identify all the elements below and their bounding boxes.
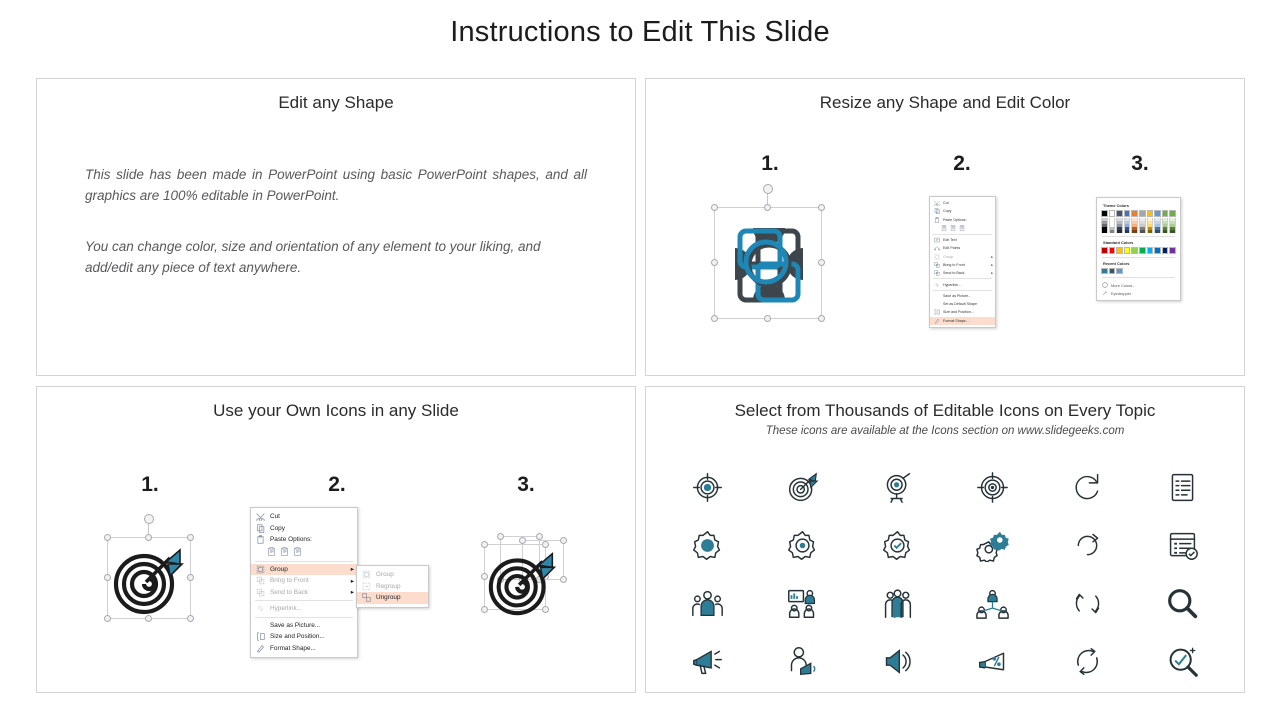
color-picker-divider-2	[1102, 257, 1175, 258]
context-menu-item-label: Hyperlink...	[941, 283, 993, 287]
person-megaphone-icon[interactable]	[786, 645, 819, 678]
ungrouped-target-icon-group[interactable]	[484, 536, 566, 620]
hyperlink-icon-wrap	[932, 282, 941, 288]
theme-shade-5-4[interactable]	[1139, 230, 1146, 233]
target-on-stand-icon[interactable]	[881, 471, 914, 504]
standard-color-swatch-8[interactable]	[1162, 247, 1169, 254]
icon-cell-crosshair-target-icon[interactable]	[660, 458, 755, 516]
paste-keep-text-icon-wrap[interactable]	[959, 225, 965, 232]
icon-cell-presentation-team-icon[interactable]	[755, 574, 850, 632]
paste-keep-formatting-icon	[941, 225, 947, 231]
context-menu-item-label: Edit Points	[941, 246, 993, 250]
theme-color-swatch-7[interactable]	[1154, 210, 1161, 217]
edit-shape-paragraph-1: This slide has been made in PowerPoint u…	[85, 165, 587, 207]
theme-shade-8-4[interactable]	[1162, 230, 1169, 233]
size-position-icon	[934, 309, 940, 315]
standard-color-swatch-3[interactable]	[1124, 247, 1131, 254]
theme-color-swatch-9[interactable]	[1169, 210, 1176, 217]
context-menu-small[interactable]: CutCopyPaste Options:Edit TextEdit Point…	[929, 196, 996, 328]
theme-shade-2-4[interactable]	[1116, 230, 1123, 233]
loudspeaker-icon[interactable]	[881, 645, 914, 678]
group-icon-wrap	[932, 254, 941, 260]
paste-options-row[interactable]	[930, 224, 995, 233]
context-menu-item-copy[interactable]: Copy	[930, 207, 995, 215]
none-wrap	[932, 301, 941, 307]
recent-colors-grid[interactable]	[1101, 268, 1176, 275]
icon-cell-dual-gears-icon[interactable]	[945, 516, 1040, 574]
megaphone-icon[interactable]	[691, 645, 724, 678]
resize-step-number-1: 1.	[740, 152, 800, 176]
gear-filled-icon[interactable]	[691, 529, 724, 562]
edit-text-icon-wrap	[932, 237, 941, 243]
paste-keep-text-icon	[959, 225, 965, 231]
context-menu-divider	[933, 290, 992, 291]
team-crowd-icon[interactable]	[881, 587, 914, 620]
context-menu-item-label: Send to Back	[941, 271, 991, 275]
send-back-icon-wrap	[254, 588, 267, 597]
context-menu-item-save-as-picture[interactable]: Save as Picture...	[930, 292, 995, 300]
bring-front-icon	[934, 262, 940, 268]
icon-row-3	[660, 574, 1230, 632]
icon-cell-magnifier-target-icon[interactable]	[1135, 632, 1230, 690]
icon-cell-circular-arrow-icon[interactable]	[1040, 516, 1135, 574]
paste-picture-icon	[950, 225, 956, 231]
hyperlink-icon-wrap	[254, 604, 267, 613]
crosshair-rings-icon[interactable]	[976, 471, 1009, 504]
edit-text-icon	[934, 237, 940, 243]
scissors-icon	[256, 512, 265, 521]
context-menu[interactable]: CutCopyPaste Options:Group▸Bring to Fron…	[250, 507, 358, 658]
resize-handle-bottom-left[interactable]	[711, 315, 718, 322]
context-menu-item-label: Size and Position...	[267, 633, 354, 640]
circular-arrow-icon[interactable]	[1071, 529, 1104, 562]
more-colors-label: More Colors...	[1111, 283, 1135, 288]
send-back-icon	[256, 588, 265, 597]
theme-shade-7-4[interactable]	[1154, 230, 1161, 233]
recent-color-swatch-0[interactable]	[1101, 268, 1108, 275]
refresh-arrow-icon[interactable]	[1071, 471, 1104, 504]
format-shape-icon-wrap	[932, 318, 941, 324]
icons-step-number-1: 1.	[120, 473, 180, 497]
context-menu-item-label: Group	[267, 566, 351, 573]
magnifier-target-icon[interactable]	[1166, 645, 1199, 678]
gear-center-dot-icon[interactable]	[786, 529, 819, 562]
ungroup-icon	[362, 593, 371, 602]
icon-cell-refresh-arrow-icon[interactable]	[1040, 458, 1135, 516]
theme-shade-column-6[interactable]	[1147, 218, 1154, 233]
paste-keep-text-icon	[293, 547, 302, 556]
recent-color-swatch-1[interactable]	[1109, 268, 1116, 275]
chevron-right-icon: ▸	[991, 271, 993, 275]
context-menu-item-label: Save as Picture...	[941, 294, 993, 298]
resize-handle-bottom-middle[interactable]	[764, 315, 771, 322]
context-menu-item-label: Cut	[267, 513, 354, 520]
paste-picture-icon-wrap[interactable]	[950, 225, 956, 232]
color-picker-standard-heading: Standard Colors	[1103, 240, 1176, 245]
context-menu-item-label: Hyperlink...	[267, 605, 354, 612]
icon-cell-network-team-icon[interactable]	[945, 574, 1040, 632]
icon-cell-crosshair-rings-icon[interactable]	[945, 458, 1040, 516]
icon-cell-gear-check-icon[interactable]	[850, 516, 945, 574]
page-title: Instructions to Edit This Slide	[0, 16, 1280, 49]
theme-shade-1-4[interactable]	[1109, 230, 1116, 233]
context-menu-item-ungroup[interactable]: Ungroup	[357, 592, 428, 604]
theme-shade-column-2[interactable]	[1116, 218, 1123, 233]
context-menu-item-group[interactable]: Group▸	[251, 564, 357, 576]
chevron-right-icon: ▸	[991, 255, 993, 259]
icon-cell-loudspeaker-icon[interactable]	[850, 632, 945, 690]
bring-front-icon-wrap	[932, 262, 941, 268]
resize-handle-bottom-middle[interactable]	[145, 615, 152, 622]
context-menu-item-send-to-back[interactable]: Send to Back▸	[930, 269, 995, 277]
icon-row-2	[660, 516, 1230, 574]
format-shape-icon-wrap	[254, 644, 267, 653]
chevron-right-icon: ▸	[991, 263, 993, 267]
context-menu-item-copy[interactable]: Copy	[251, 523, 357, 535]
context-menu-divider	[255, 561, 353, 562]
context-menu-item-label: Group	[941, 255, 991, 259]
icon-row-1	[660, 458, 1230, 516]
context-menu-item-label: Paste Options:	[941, 218, 993, 222]
paste-icon	[256, 535, 265, 544]
color-picker-divider-3	[1102, 277, 1175, 278]
edit-points-icon-wrap	[932, 245, 941, 251]
paste-icon-wrap	[254, 535, 267, 544]
context-menu-item-bring-to-front[interactable]: Bring to Front▸	[251, 575, 357, 587]
paste-keep-text-icon-wrap[interactable]	[293, 547, 302, 558]
chevron-right-icon: ▸	[351, 577, 354, 585]
context-menu-item-hyperlink[interactable]: Hyperlink...	[930, 280, 995, 288]
context-menu-item-label: Bring to Front	[267, 577, 351, 584]
icons-step-number-3: 3.	[496, 473, 556, 497]
paste-icon-wrap	[932, 217, 941, 223]
hyperlink-icon	[934, 282, 940, 288]
resize-handle-top-middle[interactable]	[764, 204, 771, 211]
theme-color-swatch-3[interactable]	[1124, 210, 1131, 217]
theme-color-swatch-0[interactable]	[1101, 210, 1108, 217]
resize-handle-bottom-left[interactable]	[104, 615, 111, 622]
target-icon-selection-box[interactable]	[107, 537, 191, 619]
rotation-handle[interactable]	[144, 514, 154, 524]
regroup-icon-wrap	[360, 582, 373, 591]
format-shape-icon	[934, 318, 940, 324]
hyperlink-icon	[256, 604, 265, 613]
theme-color-swatch-1[interactable]	[1109, 210, 1116, 217]
none-wrap	[932, 293, 941, 299]
scissors-icon-wrap	[932, 200, 941, 206]
resize-handle-middle-right[interactable]	[818, 259, 825, 266]
theme-shade-column-5[interactable]	[1139, 218, 1146, 233]
context-menu-item-group[interactable]: Group▸	[930, 252, 995, 260]
theme-shade-column-8[interactable]	[1162, 218, 1169, 233]
slide-canvas: Instructions to Edit This Slide Edit any…	[0, 0, 1280, 720]
theme-shade-column-9[interactable]	[1169, 218, 1176, 233]
none-wrap	[254, 621, 267, 630]
icon-cell-document-check-icon[interactable]	[1135, 516, 1230, 574]
theme-shade-column-0[interactable]	[1101, 218, 1108, 233]
context-menu-item-bring-to-front[interactable]: Bring to Front▸	[930, 261, 995, 269]
chevron-right-icon: ▸	[351, 588, 354, 596]
context-menu-item-cut[interactable]: Cut	[930, 199, 995, 207]
context-menu-item-hyperlink[interactable]: Hyperlink...	[251, 603, 357, 615]
resize-handle-top-right[interactable]	[818, 204, 825, 211]
context-menu-item-label: Size and Position...	[941, 310, 993, 314]
paste-keep-formatting-icon	[267, 547, 276, 556]
standard-color-swatch-0[interactable]	[1101, 247, 1108, 254]
network-team-icon[interactable]	[976, 587, 1009, 620]
size-position-icon-wrap	[254, 632, 267, 641]
resize-step-number-3: 3.	[1110, 152, 1170, 176]
dartboard-arrow-icon	[484, 538, 566, 622]
context-menu-item-label: Copy	[941, 209, 993, 213]
icon-cell-gear-filled-icon[interactable]	[660, 516, 755, 574]
bring-front-icon	[256, 576, 265, 585]
context-menu-item-label: Group	[373, 571, 425, 578]
theme-color-swatch-2[interactable]	[1116, 210, 1123, 217]
context-menu-item-label: Bring to Front	[941, 263, 991, 267]
context-menu-divider	[933, 278, 992, 279]
context-menu-divider	[255, 600, 353, 601]
theme-color-swatch-8[interactable]	[1162, 210, 1169, 217]
paste-icon	[934, 217, 940, 223]
icon-cell-checklist-document-icon[interactable]	[1135, 458, 1230, 516]
crosshair-target-icon[interactable]	[691, 471, 724, 504]
context-menu-item-regroup[interactable]: Regroup	[357, 581, 428, 593]
context-menu-item-cut[interactable]: Cut	[251, 511, 357, 523]
panel-edit-any-shape: Edit any Shape This slide has been made …	[36, 78, 636, 376]
theme-colors-shades-grid[interactable]	[1101, 218, 1176, 233]
resize-handle-top-left[interactable]	[104, 534, 111, 541]
eyedropper-label: Eyedropper	[1111, 291, 1131, 296]
resize-handle-top-right[interactable]	[187, 534, 194, 541]
eyedropper-icon	[1102, 290, 1108, 296]
quadrant-circle-shape-icon	[715, 208, 823, 320]
icon-cell-magnifier-icon[interactable]	[1135, 574, 1230, 632]
theme-shade-0-4[interactable]	[1101, 230, 1108, 233]
context-menu-item-label: Send to Back	[267, 589, 351, 596]
icons-step-number-2: 2.	[307, 473, 367, 497]
icon-gallery-grid	[660, 458, 1230, 690]
context-menu-item-label: Copy	[267, 525, 354, 532]
context-menu-item-label: Save as Picture...	[267, 622, 354, 629]
theme-shade-6-4[interactable]	[1147, 230, 1154, 233]
copy-icon	[934, 208, 940, 214]
ungroup-icon-wrap	[360, 593, 373, 602]
theme-color-swatch-5[interactable]	[1139, 210, 1146, 217]
resize-handle-middle-left[interactable]	[711, 259, 718, 266]
context-menu-item-label: Regroup	[373, 583, 425, 590]
resize-handle-top-left[interactable]	[711, 204, 718, 211]
eyedropper-option[interactable]: Eyedropper	[1101, 289, 1176, 297]
icon-cell-team-crowd-icon[interactable]	[850, 574, 945, 632]
panel-title-resize-shape: Resize any Shape and Edit Color	[646, 93, 1244, 113]
context-menu-item-label: Cut	[941, 201, 993, 205]
group-icon-wrap	[254, 565, 267, 574]
edit-shape-paragraph-2: You can change color, size and orientati…	[85, 237, 587, 279]
group-icon-wrap	[360, 570, 373, 579]
paste-picture-icon	[280, 547, 289, 556]
context-menu-item-format-shape[interactable]: Format Shape...	[251, 643, 357, 655]
context-menu-item-label: Edit Text	[941, 238, 993, 242]
theme-color-swatch-6[interactable]	[1147, 210, 1154, 217]
context-menu-item-label: Paste Options:	[267, 536, 354, 543]
panel-title-editable-icons: Select from Thousands of Editable Icons …	[646, 401, 1244, 421]
theme-shade-column-4[interactable]	[1131, 218, 1138, 233]
size-position-icon	[256, 632, 265, 641]
context-menu-group-submenu[interactable]: GroupRegroupUngroup	[356, 565, 429, 608]
standard-color-swatch-6[interactable]	[1147, 247, 1154, 254]
panel-subtitle-editable-icons: These icons are available at the Icons s…	[646, 425, 1244, 437]
panel-title-edit-shape: Edit any Shape	[37, 93, 635, 113]
resize-handle-bottom-right[interactable]	[818, 315, 825, 322]
send-back-icon	[934, 270, 940, 276]
standard-color-swatch-2[interactable]	[1116, 247, 1123, 254]
context-menu-item-send-to-back[interactable]: Send to Back▸	[251, 587, 357, 599]
theme-shade-9-4[interactable]	[1169, 230, 1176, 233]
presentation-team-icon[interactable]	[786, 587, 819, 620]
theme-shade-column-1[interactable]	[1109, 218, 1116, 233]
theme-shade-3-4[interactable]	[1124, 230, 1131, 233]
icon-row-4	[660, 632, 1230, 690]
context-menu-item-paste-options[interactable]: Paste Options:	[251, 534, 357, 546]
standard-color-swatch-7[interactable]	[1154, 247, 1161, 254]
scissors-icon	[934, 200, 940, 206]
megaphone-percent-icon[interactable]	[976, 645, 1009, 678]
context-menu-item-save-as-picture[interactable]: Save as Picture...	[251, 620, 357, 632]
theme-shade-column-3[interactable]	[1124, 218, 1131, 233]
format-shape-icon	[256, 644, 265, 653]
resize-step-number-2: 2.	[932, 152, 992, 176]
size-position-icon-wrap	[932, 309, 941, 315]
copy-icon-wrap	[932, 208, 941, 214]
icon-cell-dartboard-arrow-icon[interactable]	[755, 458, 850, 516]
two-way-arrows-icon[interactable]	[1071, 587, 1104, 620]
color-picker-theme-heading: Theme Colors	[1103, 203, 1176, 208]
color-picker-panel[interactable]: Theme Colors Standard Colors Recent Colo…	[1096, 197, 1181, 301]
circular-arrows-icon[interactable]	[1071, 645, 1104, 678]
paste-options-row[interactable]	[251, 546, 357, 559]
checklist-document-icon[interactable]	[1166, 471, 1199, 504]
resize-handle-bottom-right[interactable]	[187, 615, 194, 622]
icon-cell-megaphone-percent-icon[interactable]	[945, 632, 1040, 690]
bring-front-icon-wrap	[254, 576, 267, 585]
rotation-handle[interactable]	[763, 184, 773, 194]
resize-handle-top-middle[interactable]	[145, 534, 152, 541]
icon-cell-circular-arrows-icon[interactable]	[1040, 632, 1135, 690]
panel-title-own-icons: Use your Own Icons in any Slide	[37, 401, 635, 421]
context-menu-item-set-as-default-shape[interactable]: Set as Default Shape	[930, 300, 995, 308]
theme-colors-grid[interactable]	[1101, 210, 1176, 217]
context-menu-item-edit-points[interactable]: Edit Points	[930, 244, 995, 252]
send-back-icon-wrap	[932, 270, 941, 276]
context-menu-item-label: Set as Default Shape	[941, 302, 993, 306]
group-icon	[256, 565, 265, 574]
icon-cell-megaphone-icon[interactable]	[660, 632, 755, 690]
regroup-icon	[362, 582, 371, 591]
context-menu-item-size-and-position[interactable]: Size and Position...	[251, 631, 357, 643]
icon-cell-gear-center-dot-icon[interactable]	[755, 516, 850, 574]
context-menu-item-label: Format Shape...	[941, 319, 993, 323]
more-colors-icon	[1102, 282, 1108, 288]
context-menu-item-label: Ungroup	[373, 594, 425, 601]
context-menu-item-format-shape[interactable]: Format Shape...	[930, 317, 995, 325]
context-menu-divider	[255, 617, 353, 618]
standard-color-swatch-9[interactable]	[1169, 247, 1176, 254]
recent-color-swatch-2[interactable]	[1116, 268, 1123, 275]
standard-color-swatch-4[interactable]	[1131, 247, 1138, 254]
paste-keep-formatting-icon-wrap[interactable]	[941, 225, 947, 232]
standard-color-swatch-5[interactable]	[1139, 247, 1146, 254]
magnifier-icon[interactable]	[1166, 587, 1199, 620]
shape-selection-box[interactable]	[714, 207, 822, 319]
icon-cell-target-on-stand-icon[interactable]	[850, 458, 945, 516]
copy-icon-wrap	[254, 524, 267, 533]
resize-handle-middle-right[interactable]	[187, 574, 194, 581]
paste-keep-formatting-icon-wrap[interactable]	[267, 547, 276, 558]
standard-color-swatch-1[interactable]	[1109, 247, 1116, 254]
dartboard-arrow-icon[interactable]	[786, 471, 819, 504]
theme-shade-column-7[interactable]	[1154, 218, 1161, 233]
people-group-icon[interactable]	[691, 587, 724, 620]
color-picker-divider-1	[1102, 236, 1175, 237]
context-menu-item-size-and-position[interactable]: Size and Position...	[930, 308, 995, 316]
color-picker-recent-heading: Recent Colors	[1103, 261, 1176, 266]
group-icon	[934, 254, 940, 260]
paste-picture-icon-wrap[interactable]	[280, 547, 289, 558]
context-menu-item-paste-options[interactable]: Paste Options:	[930, 216, 995, 224]
resize-handle-middle-left[interactable]	[104, 574, 111, 581]
theme-color-swatch-4[interactable]	[1131, 210, 1138, 217]
chevron-right-icon: ▸	[351, 565, 354, 573]
scissors-icon-wrap	[254, 512, 267, 521]
context-menu-item-edit-text[interactable]: Edit Text	[930, 236, 995, 244]
icon-cell-people-group-icon[interactable]	[660, 574, 755, 632]
theme-shade-4-4[interactable]	[1131, 230, 1138, 233]
context-menu-item-group[interactable]: Group	[357, 569, 428, 581]
standard-colors-grid[interactable]	[1101, 247, 1176, 254]
context-menu-item-label: Format Shape...	[267, 645, 354, 652]
more-colors-option[interactable]: More Colors...	[1101, 281, 1176, 289]
document-check-icon[interactable]	[1166, 529, 1199, 562]
context-menu-divider	[933, 234, 992, 235]
dartboard-arrow-icon	[108, 538, 192, 620]
gear-check-icon[interactable]	[881, 529, 914, 562]
icon-cell-person-megaphone-icon[interactable]	[755, 632, 850, 690]
group-icon	[362, 570, 371, 579]
dual-gears-icon[interactable]	[976, 529, 1009, 562]
copy-icon	[256, 524, 265, 533]
edit-points-icon	[934, 245, 940, 251]
icon-cell-two-way-arrows-icon[interactable]	[1040, 574, 1135, 632]
